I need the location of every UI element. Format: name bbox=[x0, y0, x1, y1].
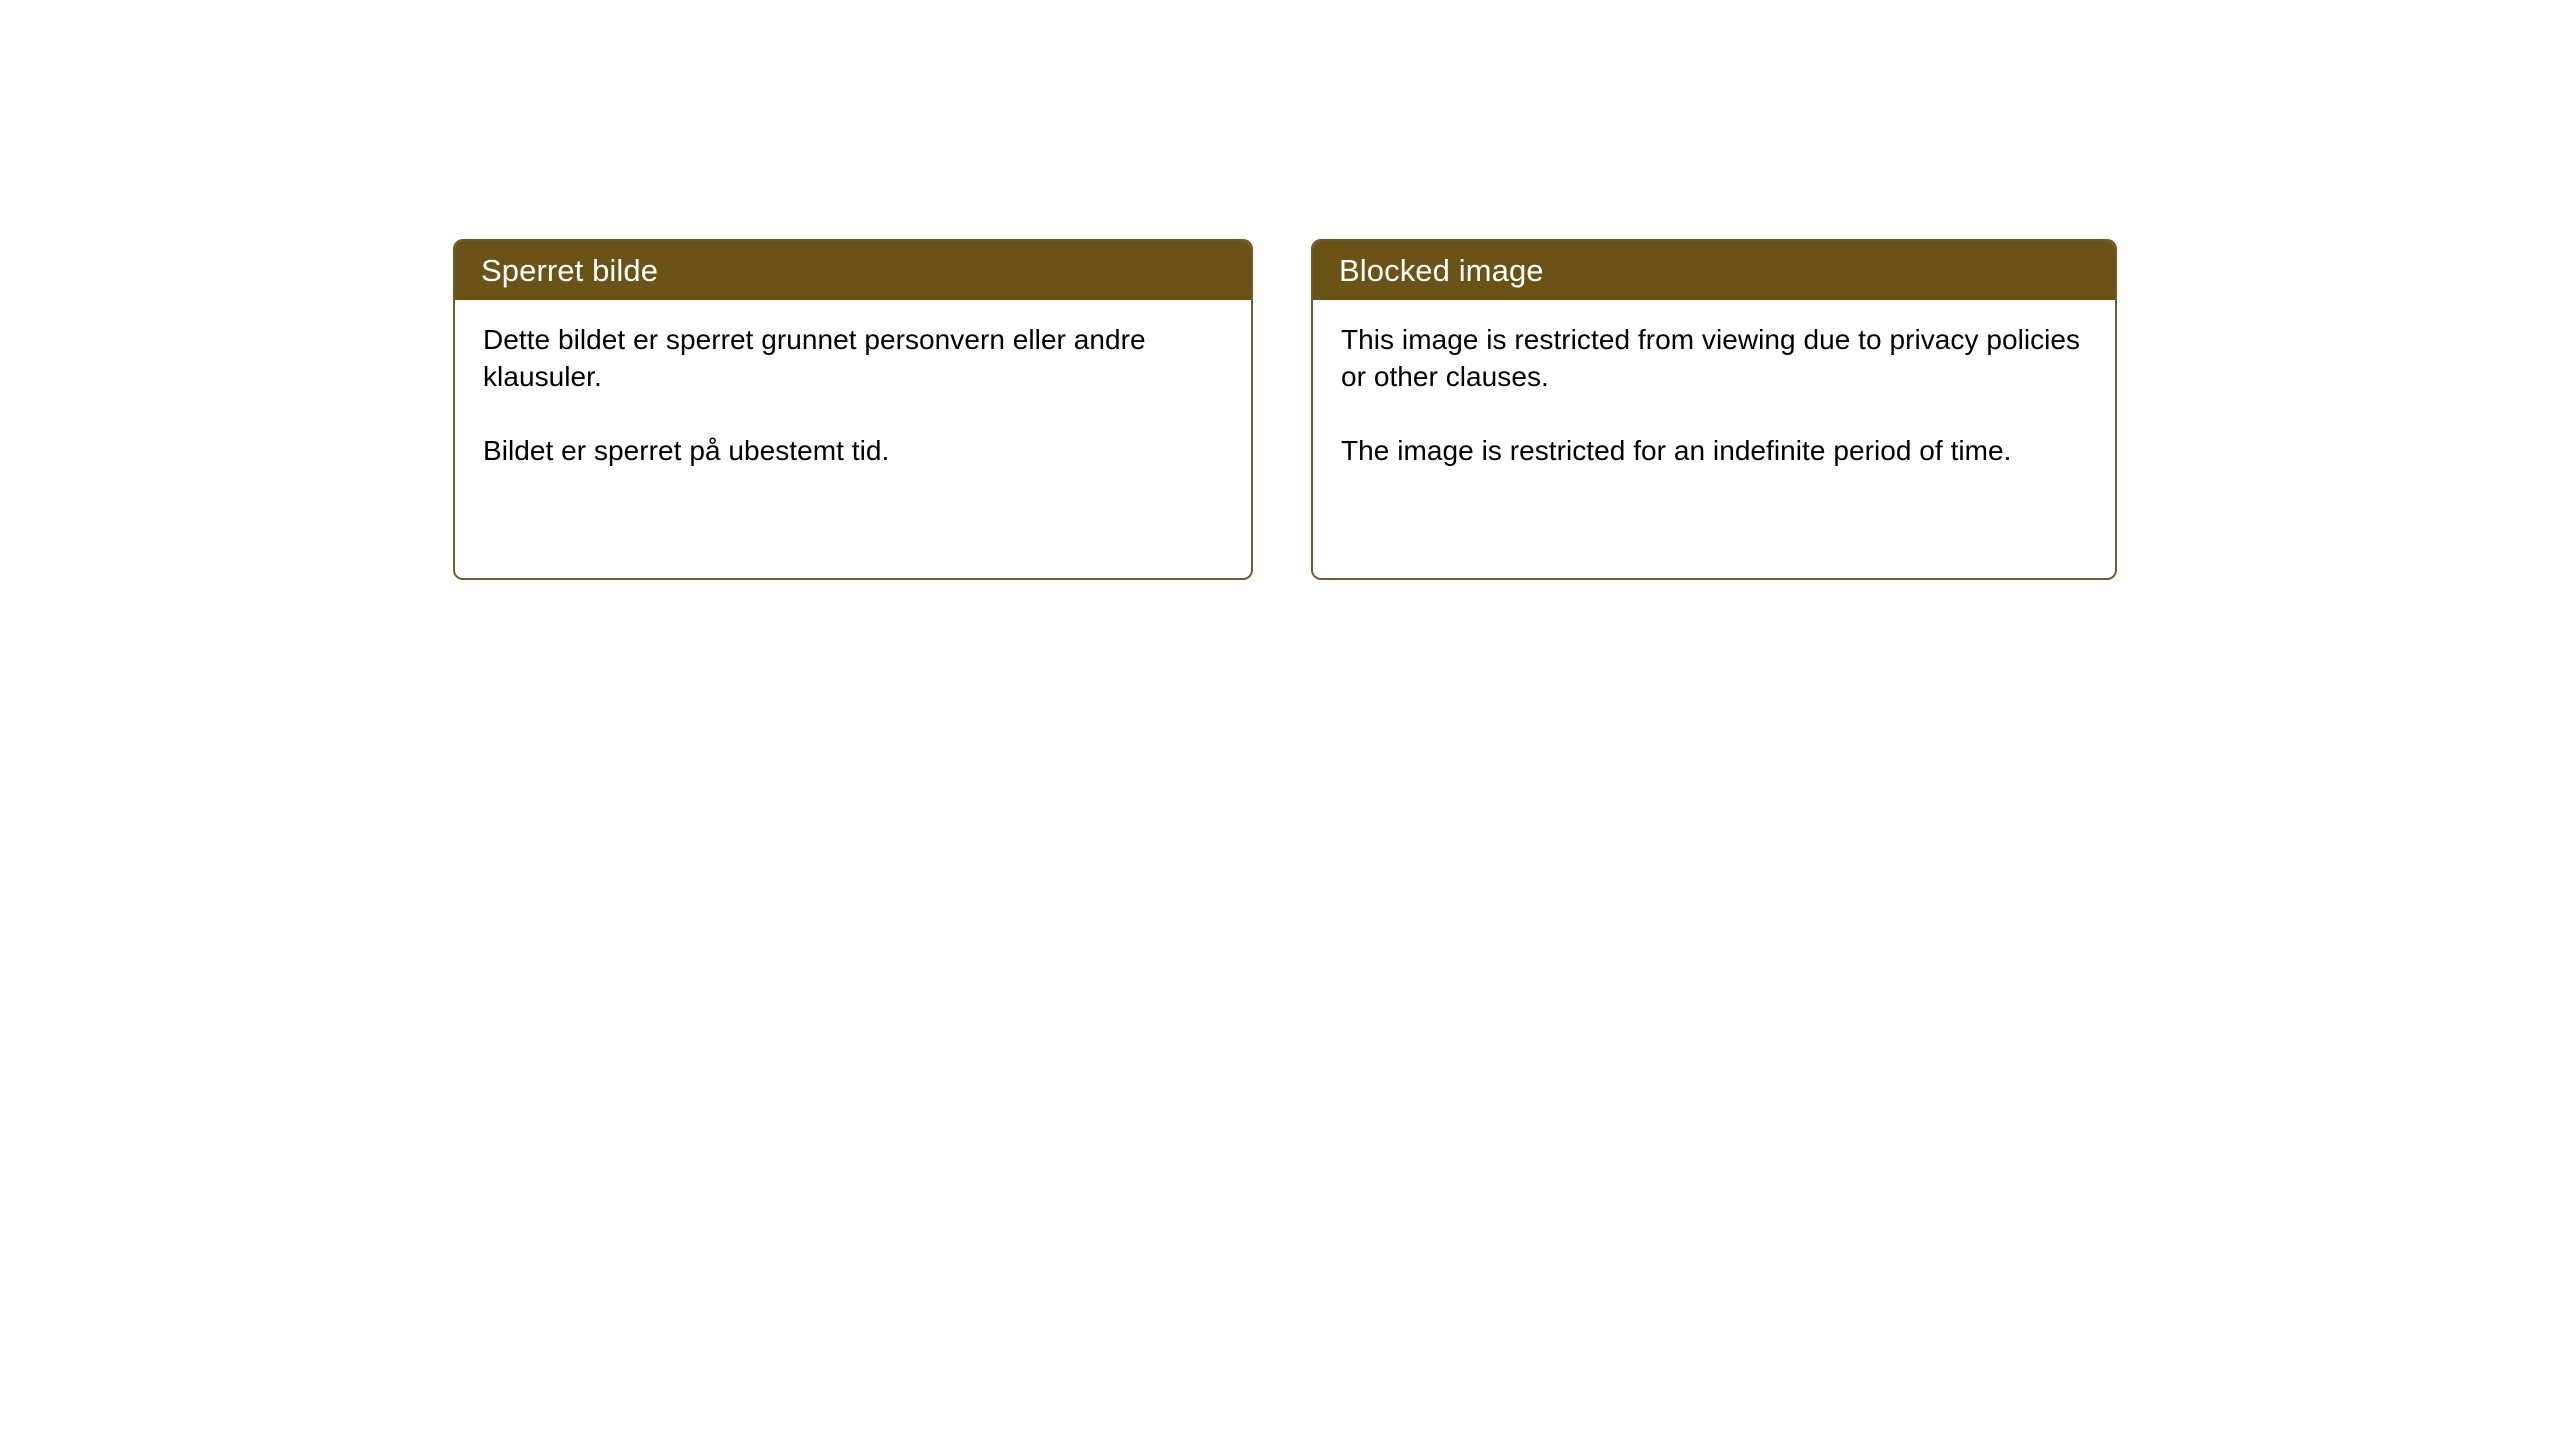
card-title-english: Blocked image bbox=[1339, 254, 1544, 288]
card-header-english: Blocked image bbox=[1313, 241, 2115, 300]
blocked-image-notice-card-norwegian: Sperret bilde Dette bildet er sperret gr… bbox=[453, 239, 1253, 580]
blocked-image-notice-card-english: Blocked image This image is restricted f… bbox=[1311, 239, 2117, 580]
card-body-english: This image is restricted from viewing du… bbox=[1313, 300, 2115, 578]
card-title-norwegian: Sperret bilde bbox=[481, 254, 658, 288]
card-body-norwegian: Dette bildet er sperret grunnet personve… bbox=[455, 300, 1251, 578]
card-header-norwegian: Sperret bilde bbox=[455, 241, 1251, 300]
card-paragraph-reason-norwegian: Dette bildet er sperret grunnet personve… bbox=[483, 321, 1223, 395]
card-paragraph-reason-english: This image is restricted from viewing du… bbox=[1341, 321, 2081, 395]
page-canvas: Sperret bilde Dette bildet er sperret gr… bbox=[0, 0, 2560, 1440]
card-paragraph-duration-norwegian: Bildet er sperret på ubestemt tid. bbox=[483, 432, 1223, 469]
card-paragraph-duration-english: The image is restricted for an indefinit… bbox=[1341, 432, 2081, 469]
